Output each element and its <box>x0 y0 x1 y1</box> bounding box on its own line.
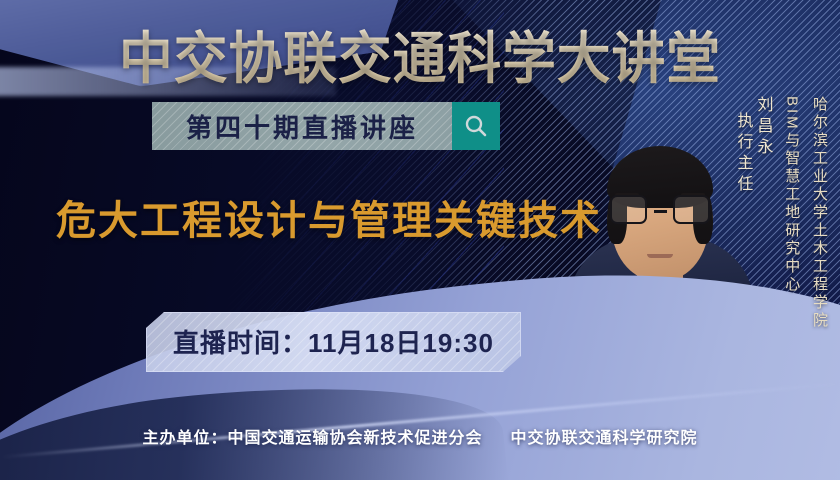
organizer-secondary: 中交协联交通科学研究院 <box>511 430 698 447</box>
speaker-center: BIM与智慧工地研究中心 <box>782 96 801 294</box>
speaker-name: 刘昌永 <box>755 96 772 159</box>
webinar-promo-banner: 中交协联交通科学大讲堂 第四十期直播讲座 危大工程设计与管理关键技术 直播时间：… <box>0 0 840 480</box>
live-time-badge: 直播时间：11月18日19:30 <box>146 312 521 372</box>
speaker-school: 哈尔滨工业大学土木工程学院 <box>809 96 828 330</box>
portrait-eyeglass-left <box>610 195 647 224</box>
organizer-primary: 中国交通运输协会新技术促进分会 <box>227 430 482 447</box>
speaker-role: 执行主任 <box>733 112 753 196</box>
search-icon[interactable] <box>452 102 500 150</box>
page-title: 中交协联交通科学大讲堂 <box>17 14 823 95</box>
portrait-eyeglass-bridge <box>654 210 667 213</box>
live-time-text: 直播时间：11月18日19:30 <box>173 328 494 358</box>
organizer-label: 主办单位： <box>142 430 227 447</box>
portrait-mouth <box>647 254 673 258</box>
episode-bar: 第四十期直播讲座 <box>152 102 500 150</box>
speaker-credentials: 刘昌永 执行主任 BIM与智慧工地研究中心 哈尔滨工业大学土木工程学院 <box>724 96 829 330</box>
organizer-footer: 主办单位：中国交通运输协会新技术促进分会中交协联交通科学研究院 <box>0 424 840 448</box>
speaker-name-column: 刘昌永 执行主任 <box>733 96 773 196</box>
portrait-eyeglass-right <box>673 195 710 224</box>
episode-label: 第四十期直播讲座 <box>186 108 418 145</box>
lecture-headline: 危大工程设计与管理关键技术 <box>56 188 602 246</box>
episode-label-container: 第四十期直播讲座 <box>152 102 452 150</box>
